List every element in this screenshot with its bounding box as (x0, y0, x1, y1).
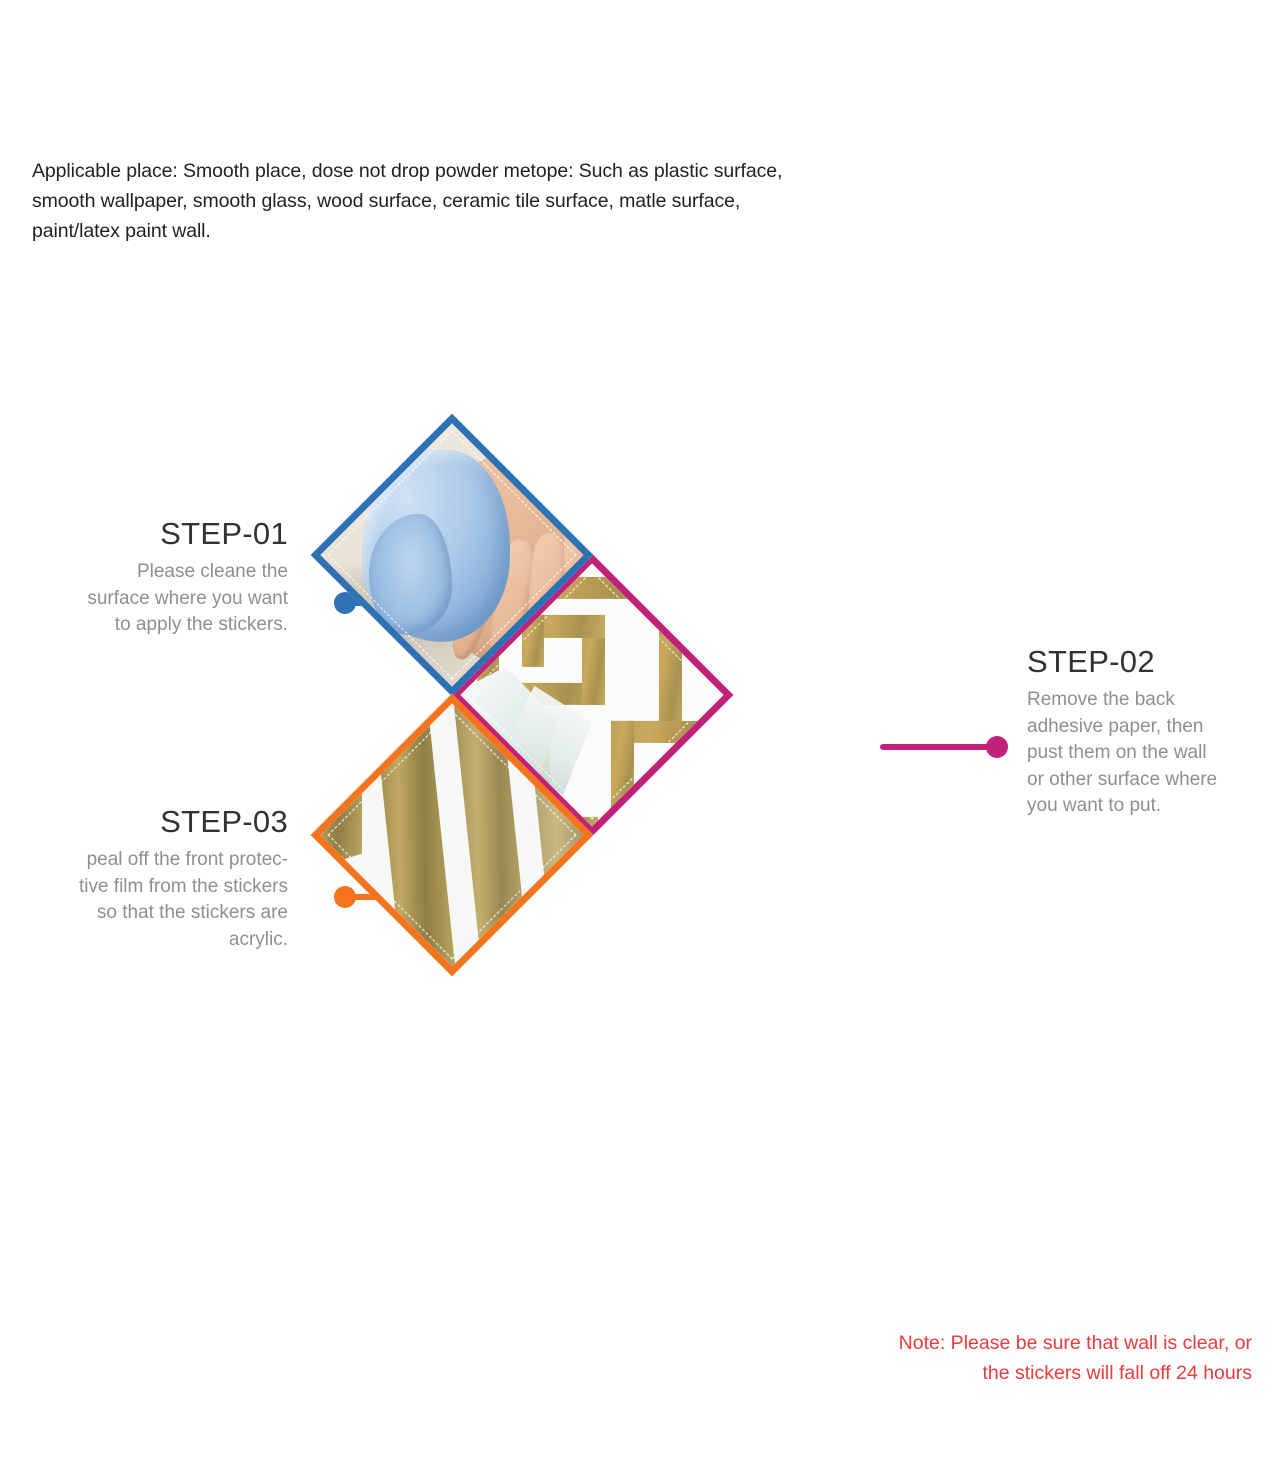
step-02-connector-dot[interactable] (986, 736, 1008, 758)
step-01-text-block: STEP-01 Please cleane the surface where … (40, 515, 288, 639)
warning-note: Note: Please be sure that wall is clear,… (732, 1328, 1252, 1388)
step-02-connector-line (880, 744, 995, 750)
step-02-title: STEP-02 (1027, 643, 1257, 681)
step-03-connector-dot[interactable] (334, 886, 356, 908)
step-01-title: STEP-01 (40, 515, 288, 553)
step-03-text-block: STEP-03 peal off the front protec- tive … (40, 803, 288, 953)
step-01-description: Please cleane the surface where you want… (40, 559, 288, 639)
steps-diamond-cluster (300, 440, 1040, 1065)
step-03-description: peal off the front protec- tive film fro… (40, 847, 288, 953)
step-02-description: Remove the back adhesive paper, then pus… (1027, 687, 1257, 820)
step-03-title: STEP-03 (40, 803, 288, 841)
step-02-text-block: STEP-02 Remove the back adhesive paper, … (1027, 643, 1257, 820)
applicable-place-paragraph: Applicable place: Smooth place, dose not… (32, 156, 912, 246)
